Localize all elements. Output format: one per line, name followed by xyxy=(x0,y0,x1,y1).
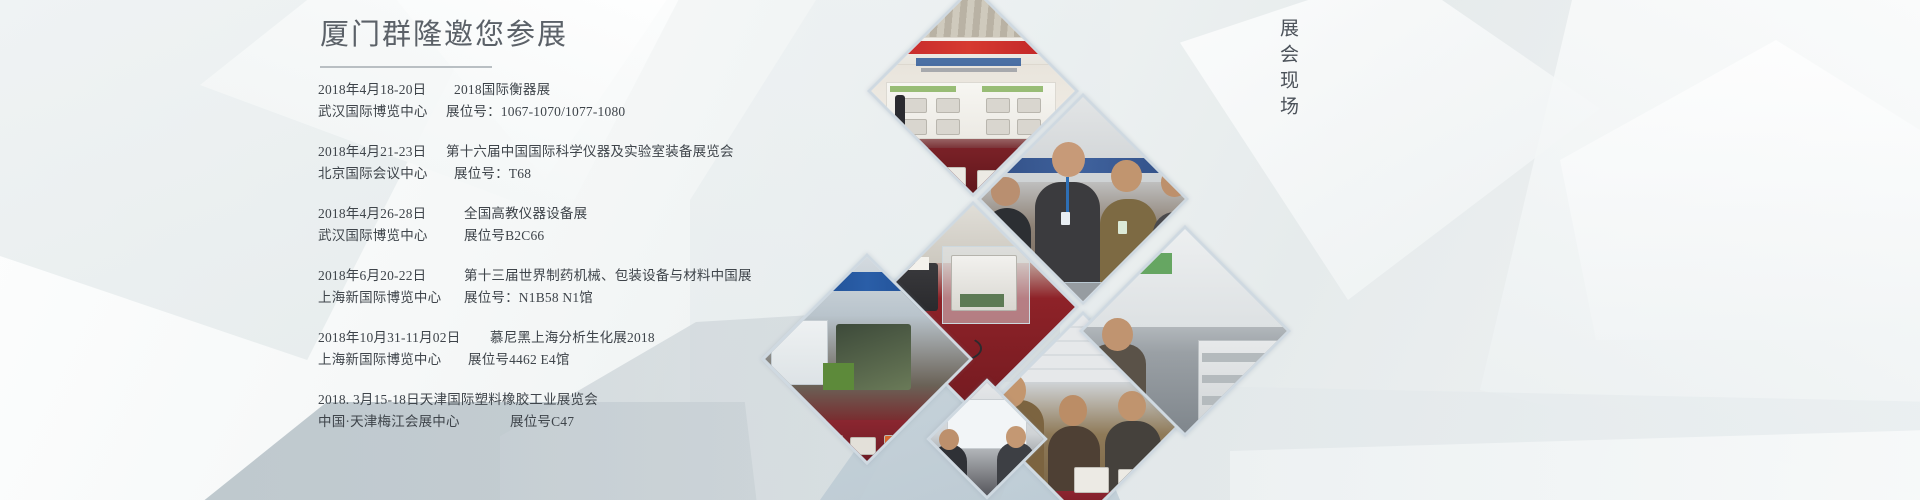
exhibition-booth: 展位号C47 xyxy=(510,411,574,433)
exhibition-name: 慕尼黑上海分析生化展2018 xyxy=(490,327,655,349)
background-facet-8 xyxy=(1560,40,1920,340)
exhibition-date: 2018年6月20-22日 xyxy=(318,265,446,287)
exhibition-date: 2018年4月21-23日 xyxy=(318,141,446,163)
exhibition-date: 2018年4月18-20日 xyxy=(318,79,446,101)
exhibition-booth: 展位号：1067-1070/1077-1080 xyxy=(446,101,625,123)
exhibition-date: 2018年4月26-28日 xyxy=(318,203,446,225)
vertical-caption: 展会现场 xyxy=(1274,18,1301,122)
exhibition-venue: 武汉国际博览中心 xyxy=(318,101,446,123)
exhibition-date: 2018. 3月15-18日天津国际塑料橡胶工业展览会 xyxy=(318,389,598,411)
exhibition-banner: 厦门群隆邀您参展 2018年4月18-20日 2018国际衡器展 武汉国际博览中… xyxy=(0,0,1920,500)
exhibition-booth: 展位号B2C66 xyxy=(446,225,544,247)
exhibition-venue: 上海新国际博览中心 xyxy=(318,287,464,309)
exhibition-venue: 北京国际会议中心 xyxy=(318,163,446,185)
exhibition-name: 第十六届中国国际科学仪器及实验室装备展览会 xyxy=(446,141,734,163)
photo-collage xyxy=(830,0,1250,500)
background-facet-12 xyxy=(1230,430,1920,500)
exhibition-date: 2018年10月31-11月02日 xyxy=(318,327,490,349)
exhibition-booth: 展位号：N1B58 N1馆 xyxy=(464,287,593,309)
exhibition-booth: 展位号4462 E4馆 xyxy=(468,349,570,371)
exhibition-booth: 展位号：T68 xyxy=(446,163,531,185)
exhibition-name: 全国高教仪器设备展 xyxy=(446,203,587,225)
exhibition-venue: 上海新国际博览中心 xyxy=(318,349,468,371)
exhibition-name: 第十三届世界制药机械、包装设备与材料中国展 xyxy=(446,265,752,287)
exhibition-venue: 中国·天津梅江会展中心 xyxy=(318,411,510,433)
exhibition-venue: 武汉国际博览中心 xyxy=(318,225,446,247)
background-facet-7 xyxy=(1480,0,1920,500)
title-underline xyxy=(320,66,492,68)
exhibition-name: 2018国际衡器展 xyxy=(446,79,550,101)
